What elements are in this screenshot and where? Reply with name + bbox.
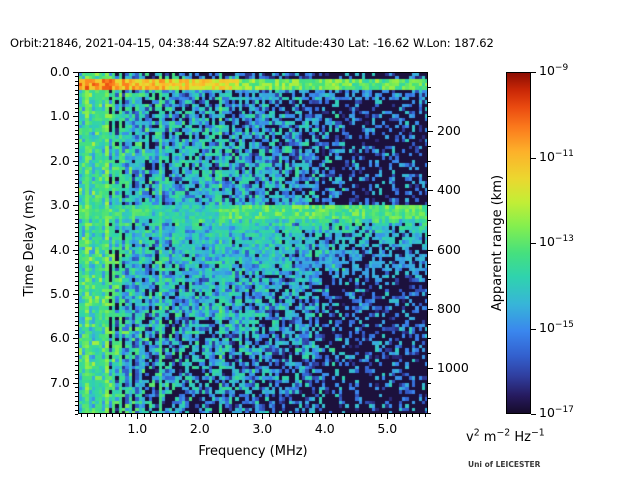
y-tick-minor-left [75, 347, 78, 348]
y-tick-minor-left [75, 241, 78, 242]
x-tick-minor [212, 414, 213, 417]
y-tick-major-right [428, 190, 433, 191]
y-tick-minor-left [75, 94, 78, 95]
y-tick-minor-right [428, 146, 431, 147]
x-tick-minor [156, 414, 157, 417]
x-tick-minor [306, 414, 307, 417]
y-tick-minor-left [75, 263, 78, 264]
y-tick-minor-left [75, 103, 78, 104]
x-tick-minor [162, 414, 163, 417]
y-tick-minor-left [75, 210, 78, 211]
x-tick-minor [344, 414, 345, 417]
y-tick-minor-left [75, 401, 78, 402]
x-tick-minor [331, 414, 332, 417]
y-tick-minor-left [75, 156, 78, 157]
x-tick-minor [362, 414, 363, 417]
y-tick-minor-left [75, 236, 78, 237]
y-tick-major-left [73, 338, 78, 339]
y-tick-major-right [428, 368, 433, 369]
y-tick-minor-left [75, 121, 78, 122]
x-tick-minor [250, 414, 251, 417]
y-tick-minor-left [75, 201, 78, 202]
colorbar-tick [531, 243, 536, 244]
y-tick-minor-right [428, 102, 431, 103]
x-tick-minor [350, 414, 351, 417]
y-tick-minor-left [75, 370, 78, 371]
x-tick-minor [269, 414, 270, 417]
y-tick-minor-right [428, 353, 431, 354]
y-tick-major-left [73, 383, 78, 384]
y-tick-minor-left [75, 272, 78, 273]
y-tick-minor-left [75, 112, 78, 113]
x-tick-label: 5.0 [377, 421, 397, 436]
y-tick-minor-left [75, 187, 78, 188]
x-tick-minor [112, 414, 113, 417]
y-tick-major-left [73, 205, 78, 206]
x-tick-minor [294, 414, 295, 417]
x-tick-minor [194, 414, 195, 417]
x-tick-minor [381, 414, 382, 417]
x-tick-minor [131, 414, 132, 417]
y-tick-minor-left [75, 130, 78, 131]
y-tick-label-left: 5.0 [50, 286, 70, 301]
y-tick-minor-left [75, 361, 78, 362]
y-tick-label-right: 1000 [437, 360, 469, 375]
y-tick-major-right [428, 309, 433, 310]
x-tick-minor [87, 414, 88, 417]
y-tick-minor-left [75, 307, 78, 308]
y-tick-label-right: 400 [437, 182, 461, 197]
y-tick-minor-left [75, 219, 78, 220]
x-tick-minor [144, 414, 145, 417]
y-tick-minor-left [75, 214, 78, 215]
y-tick-minor-right [428, 235, 431, 236]
y-tick-minor-left [75, 85, 78, 86]
colorbar-tick [531, 329, 536, 330]
x-tick-minor [94, 414, 95, 417]
y-tick-label-left: 4.0 [50, 242, 70, 257]
x-tick-minor [244, 414, 245, 417]
x-tick-minor [312, 414, 313, 417]
y-tick-minor-left [75, 232, 78, 233]
y-tick-minor-left [75, 312, 78, 313]
x-tick-minor [181, 414, 182, 417]
y-tick-major-left [73, 294, 78, 295]
x-tick-minor [319, 414, 320, 417]
y-tick-minor-left [75, 143, 78, 144]
x-tick-minor [419, 414, 420, 417]
colorbar-tick-label: 10−11 [539, 149, 574, 164]
y-tick-minor-left [75, 330, 78, 331]
x-tick-minor [275, 414, 276, 417]
y-tick-minor-left [75, 334, 78, 335]
y-tick-minor-left [75, 343, 78, 344]
y-tick-minor-left [75, 405, 78, 406]
y-tick-major-right [428, 250, 433, 251]
y-tick-minor-right [428, 87, 431, 88]
y-tick-minor-left [75, 134, 78, 135]
x-tick-major [200, 414, 201, 419]
y-tick-minor-left [75, 245, 78, 246]
x-tick-minor [175, 414, 176, 417]
x-tick-minor [400, 414, 401, 417]
colorbar-tick-label: 10−9 [539, 63, 568, 78]
radargram-plot [78, 72, 428, 414]
colorbar-tick [531, 158, 536, 159]
y-tick-minor-right [428, 161, 431, 162]
y-tick-minor-left [75, 192, 78, 193]
x-tick-minor [225, 414, 226, 417]
x-tick-label: 3.0 [252, 421, 272, 436]
y-tick-minor-left [75, 378, 78, 379]
x-tick-major [387, 414, 388, 419]
x-tick-minor [425, 414, 426, 417]
colorbar-unit-label: v2 m−2 Hz−1 [466, 430, 545, 445]
x-tick-label: 2.0 [190, 421, 210, 436]
y-tick-minor-left [75, 299, 78, 300]
y-tick-minor-left [75, 281, 78, 282]
y-tick-minor-left [75, 374, 78, 375]
x-tick-minor [369, 414, 370, 417]
x-tick-label: 1.0 [127, 421, 147, 436]
y-tick-minor-right [428, 294, 431, 295]
x-tick-minor [206, 414, 207, 417]
x-tick-minor [256, 414, 257, 417]
x-tick-minor [125, 414, 126, 417]
y-axis-label-left: Time Delay (ms) [22, 190, 37, 297]
heatmap-canvas [79, 73, 428, 414]
y-tick-minor-left [75, 396, 78, 397]
y-tick-minor-right [428, 383, 431, 384]
y-tick-minor-left [75, 99, 78, 100]
y-tick-minor-left [75, 174, 78, 175]
x-axis-label: Frequency (MHz) [198, 444, 307, 459]
y-tick-minor-right [428, 205, 431, 206]
y-tick-minor-left [75, 325, 78, 326]
y-tick-major-left [73, 72, 78, 73]
x-tick-minor [394, 414, 395, 417]
x-tick-major [325, 414, 326, 419]
y-tick-minor-left [75, 392, 78, 393]
x-tick-minor [119, 414, 120, 417]
y-tick-minor-left [75, 125, 78, 126]
y-tick-minor-right [428, 338, 431, 339]
y-tick-label-left: 7.0 [50, 375, 70, 390]
y-tick-label-right: 800 [437, 301, 461, 316]
y-tick-minor-left [75, 410, 78, 411]
y-tick-minor-left [75, 414, 78, 415]
colorbar [506, 72, 531, 414]
x-tick-minor [187, 414, 188, 417]
x-tick-minor [169, 414, 170, 417]
y-tick-minor-right [428, 116, 431, 117]
y-tick-minor-right [428, 324, 431, 325]
x-tick-minor [231, 414, 232, 417]
y-tick-label-right: 600 [437, 242, 461, 257]
y-tick-major-left [73, 116, 78, 117]
credit-label: Uni of LEICESTER [468, 460, 540, 469]
y-tick-label-left: 2.0 [50, 153, 70, 168]
colorbar-tick-label: 10−17 [539, 405, 574, 420]
x-tick-minor [237, 414, 238, 417]
y-tick-label-left: 1.0 [50, 108, 70, 123]
y-tick-minor-left [75, 152, 78, 153]
y-tick-minor-left [75, 316, 78, 317]
y-tick-minor-left [75, 285, 78, 286]
x-tick-minor [287, 414, 288, 417]
x-tick-minor [281, 414, 282, 417]
y-tick-label-left: 6.0 [50, 330, 70, 345]
y-tick-minor-right [428, 279, 431, 280]
y-tick-minor-left [75, 352, 78, 353]
y-tick-minor-left [75, 321, 78, 322]
y-tick-minor-left [75, 365, 78, 366]
y-tick-minor-left [75, 81, 78, 82]
y-tick-minor-left [75, 267, 78, 268]
x-tick-minor [412, 414, 413, 417]
y-tick-minor-right [428, 220, 431, 221]
y-tick-major-right [428, 131, 433, 132]
y-tick-major-left [73, 161, 78, 162]
y-tick-minor-left [75, 148, 78, 149]
y-tick-minor-left [75, 108, 78, 109]
colorbar-tick [531, 414, 536, 415]
y-tick-minor-right [428, 176, 431, 177]
y-tick-minor-left [75, 139, 78, 140]
y-tick-minor-left [75, 356, 78, 357]
y-axis-label-right: Apparent range (km) [490, 175, 505, 311]
y-tick-label-left: 3.0 [50, 197, 70, 212]
y-tick-major-left [73, 250, 78, 251]
x-tick-minor [337, 414, 338, 417]
y-tick-label-right: 200 [437, 123, 461, 138]
y-tick-minor-left [75, 259, 78, 260]
y-tick-minor-right [428, 413, 431, 414]
y-tick-minor-left [75, 254, 78, 255]
colorbar-tick-label: 10−15 [539, 320, 574, 335]
x-tick-minor [300, 414, 301, 417]
x-tick-label: 4.0 [315, 421, 335, 436]
y-tick-minor-left [75, 179, 78, 180]
y-tick-minor-left [75, 387, 78, 388]
x-tick-minor [375, 414, 376, 417]
y-tick-minor-left [75, 290, 78, 291]
x-tick-minor [150, 414, 151, 417]
x-tick-minor [106, 414, 107, 417]
x-tick-minor [356, 414, 357, 417]
y-tick-minor-left [75, 90, 78, 91]
x-tick-minor [81, 414, 82, 417]
x-tick-minor [219, 414, 220, 417]
x-tick-minor [100, 414, 101, 417]
y-tick-minor-right [428, 264, 431, 265]
y-tick-minor-left [75, 223, 78, 224]
y-tick-minor-left [75, 76, 78, 77]
y-tick-minor-left [75, 276, 78, 277]
y-tick-minor-left [75, 227, 78, 228]
y-tick-minor-right [428, 398, 431, 399]
page-title: Orbit:21846, 2021-04-15, 04:38:44 SZA:97… [10, 36, 494, 50]
y-tick-minor-left [75, 196, 78, 197]
y-tick-minor-left [75, 165, 78, 166]
colorbar-tick [531, 72, 536, 73]
x-tick-major [262, 414, 263, 419]
y-tick-minor-left [75, 303, 78, 304]
y-tick-label-left: 0.0 [50, 64, 70, 79]
x-tick-minor [406, 414, 407, 417]
y-tick-minor-left [75, 170, 78, 171]
colorbar-tick-label: 10−13 [539, 234, 574, 249]
y-tick-minor-left [75, 183, 78, 184]
x-tick-major [137, 414, 138, 419]
